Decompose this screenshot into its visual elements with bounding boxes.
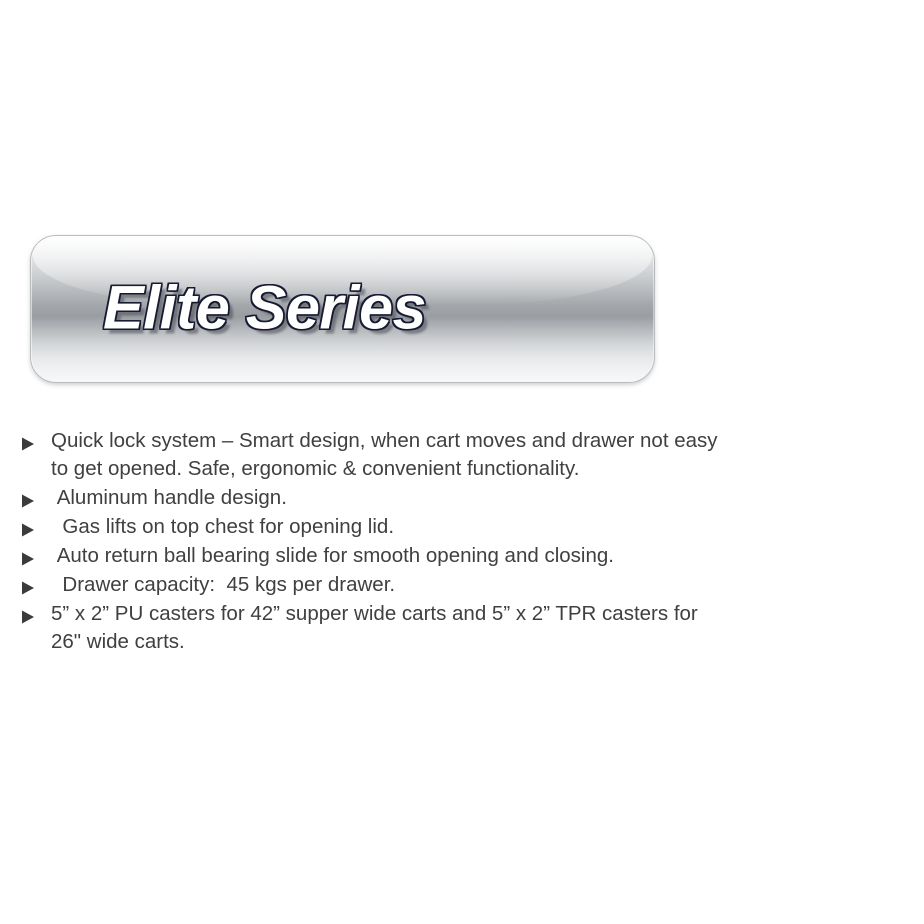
feature-item-gas-lifts: Gas lifts on top chest for opening lid. [20, 513, 880, 541]
feature-item-auto-return-slide: Auto return ball bearing slide for smoot… [20, 542, 880, 570]
feature-text: Auto return ball bearing slide for smoot… [51, 542, 880, 570]
triangle-right-icon [20, 513, 51, 538]
page-root: Elite Series Quick lock system – Smart d… [0, 0, 924, 924]
feature-item-casters: 5” x 2” PU casters for 42” supper wide c… [20, 600, 880, 656]
feature-text: Drawer capacity: 45 kgs per drawer. [51, 571, 880, 599]
triangle-right-icon [20, 542, 51, 567]
feature-text: Aluminum handle design. [51, 484, 880, 512]
feature-item-aluminum-handle: Aluminum handle design. [20, 484, 880, 512]
triangle-right-icon [20, 600, 51, 625]
triangle-right-icon [20, 484, 51, 509]
triangle-right-icon [20, 571, 51, 596]
feature-list: Quick lock system – Smart design, when c… [20, 427, 880, 657]
feature-item-quick-lock-system: Quick lock system – Smart design, when c… [20, 427, 880, 483]
triangle-right-icon [20, 427, 51, 452]
banner-title: Elite Series [103, 273, 426, 343]
feature-item-drawer-capacity: Drawer capacity: 45 kgs per drawer. [20, 571, 880, 599]
feature-text: Gas lifts on top chest for opening lid. [51, 513, 880, 541]
feature-text: Quick lock system – Smart design, when c… [51, 427, 880, 483]
elite-series-banner: Elite Series [30, 235, 655, 383]
feature-text: 5” x 2” PU casters for 42” supper wide c… [51, 600, 880, 656]
